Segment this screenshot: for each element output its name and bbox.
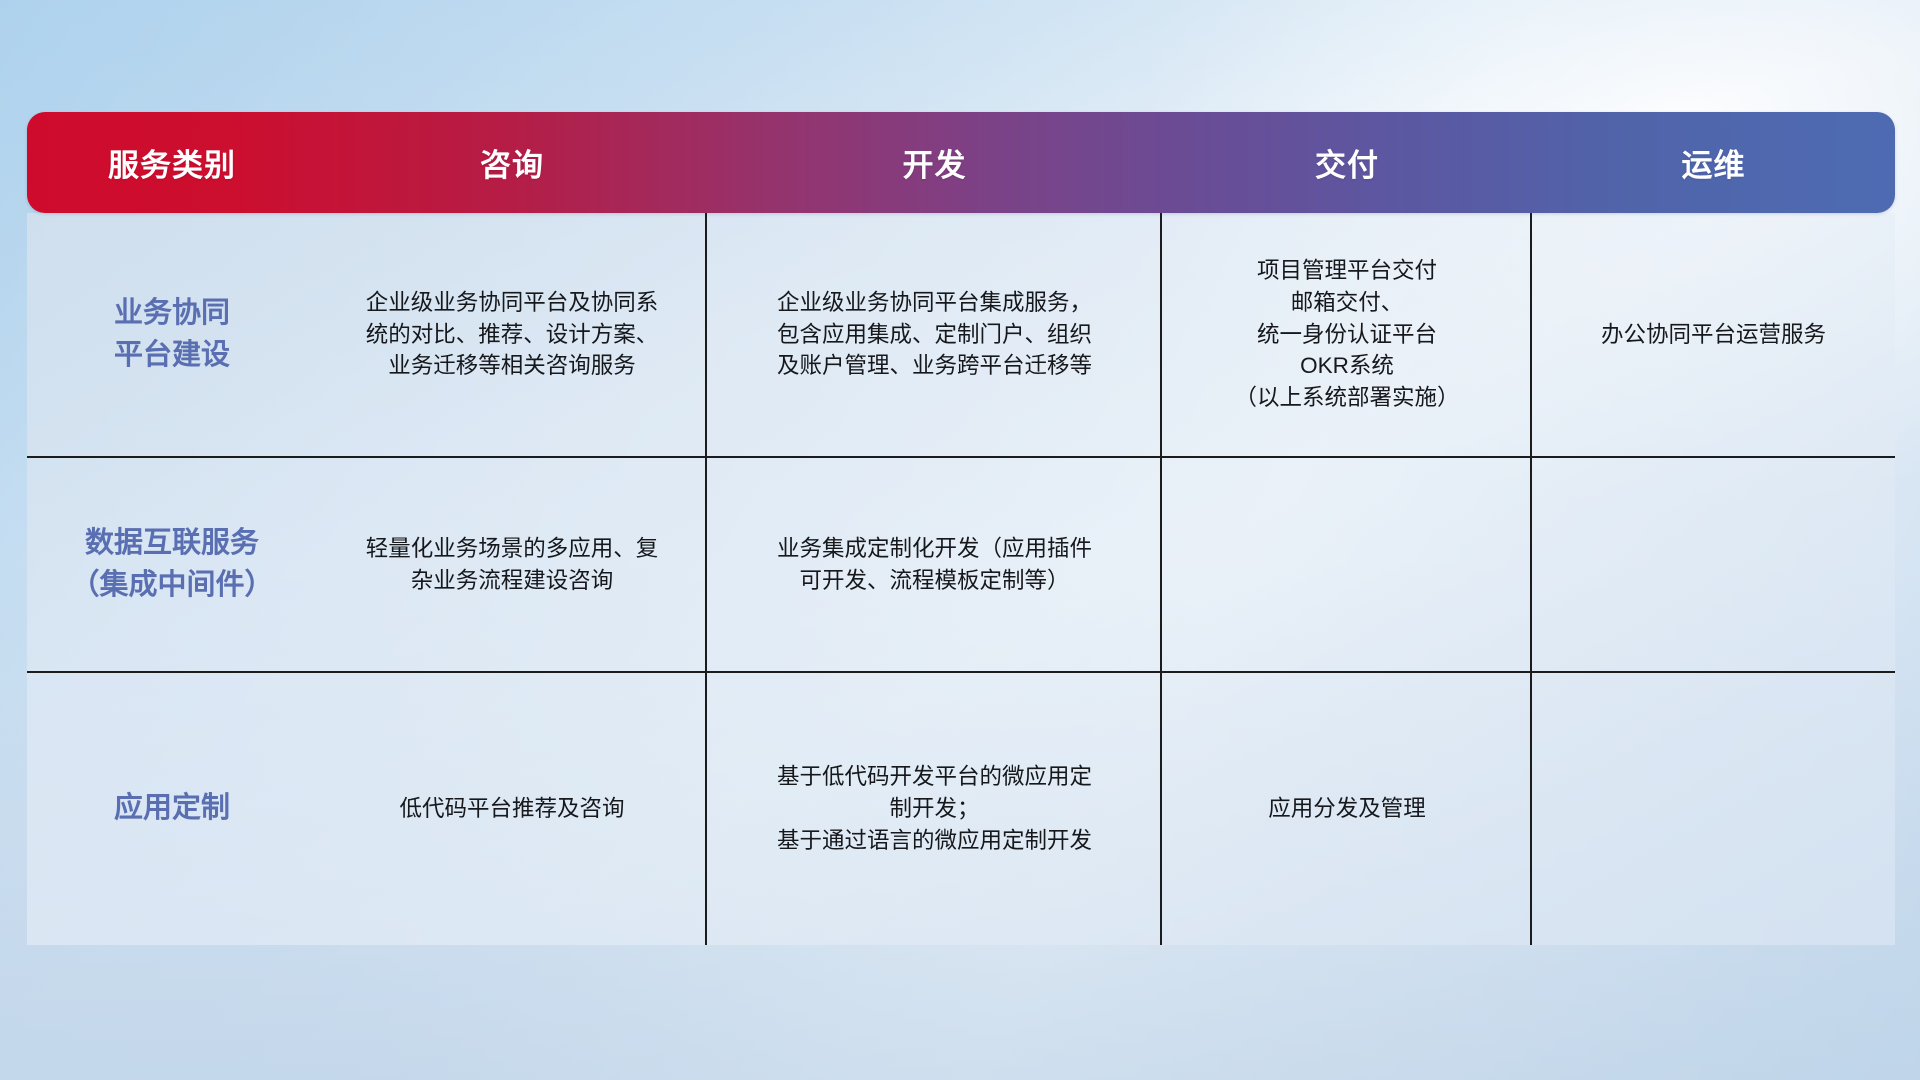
cell-consulting: 轻量化业务场景的多应用、复 杂业务流程建设咨询 xyxy=(317,458,707,671)
cell-operations xyxy=(1532,673,1895,945)
cell-development: 业务集成定制化开发（应用插件 可开发、流程模板定制等） xyxy=(707,458,1162,671)
cell-development: 企业级业务协同平台集成服务， 包含应用集成、定制门户、组织 及账户管理、业务跨平… xyxy=(707,213,1162,456)
table-row: 业务协同 平台建设 企业级业务协同平台及协同系 统的对比、推荐、设计方案、 业务… xyxy=(27,213,1895,456)
cell-delivery xyxy=(1162,458,1532,671)
cell-delivery: 应用分发及管理 xyxy=(1162,673,1532,945)
table-body: 业务协同 平台建设 企业级业务协同平台及协同系 统的对比、推荐、设计方案、 业务… xyxy=(27,213,1895,945)
cell-category: 业务协同 平台建设 xyxy=(27,213,317,456)
column-header-operations: 运维 xyxy=(1532,140,1895,185)
cell-delivery: 项目管理平台交付 邮箱交付、 统一身份认证平台 OKR系统 （以上系统部署实施） xyxy=(1162,213,1532,456)
column-header-consulting: 咨询 xyxy=(317,140,707,185)
column-divider-development-delivery xyxy=(1160,213,1162,945)
column-divider-consulting-development xyxy=(705,213,707,945)
cell-category: 应用定制 xyxy=(27,673,317,945)
column-header-development: 开发 xyxy=(707,140,1162,185)
table-header-row: 服务类别 咨询 开发 交付 运维 xyxy=(27,112,1895,213)
cell-operations xyxy=(1532,458,1895,671)
cell-consulting: 低代码平台推荐及咨询 xyxy=(317,673,707,945)
table-row: 数据互联服务 （集成中间件） 轻量化业务场景的多应用、复 杂业务流程建设咨询 业… xyxy=(27,456,1895,671)
cell-operations: 办公协同平台运营服务 xyxy=(1532,213,1895,456)
service-matrix-table: 服务类别 咨询 开发 交付 运维 业务协同 平台建设 企业级业务协同平台及协同系… xyxy=(27,112,1895,952)
cell-consulting: 企业级业务协同平台及协同系 统的对比、推荐、设计方案、 业务迁移等相关咨询服务 xyxy=(317,213,707,456)
cell-category: 数据互联服务 （集成中间件） xyxy=(27,458,317,671)
table-row: 应用定制 低代码平台推荐及咨询 基于低代码开发平台的微应用定 制开发； 基于通过… xyxy=(27,671,1895,945)
column-divider-delivery-operations xyxy=(1530,213,1532,945)
column-header-category: 服务类别 xyxy=(27,140,317,185)
cell-development: 基于低代码开发平台的微应用定 制开发； 基于通过语言的微应用定制开发 xyxy=(707,673,1162,945)
column-header-delivery: 交付 xyxy=(1162,140,1532,185)
